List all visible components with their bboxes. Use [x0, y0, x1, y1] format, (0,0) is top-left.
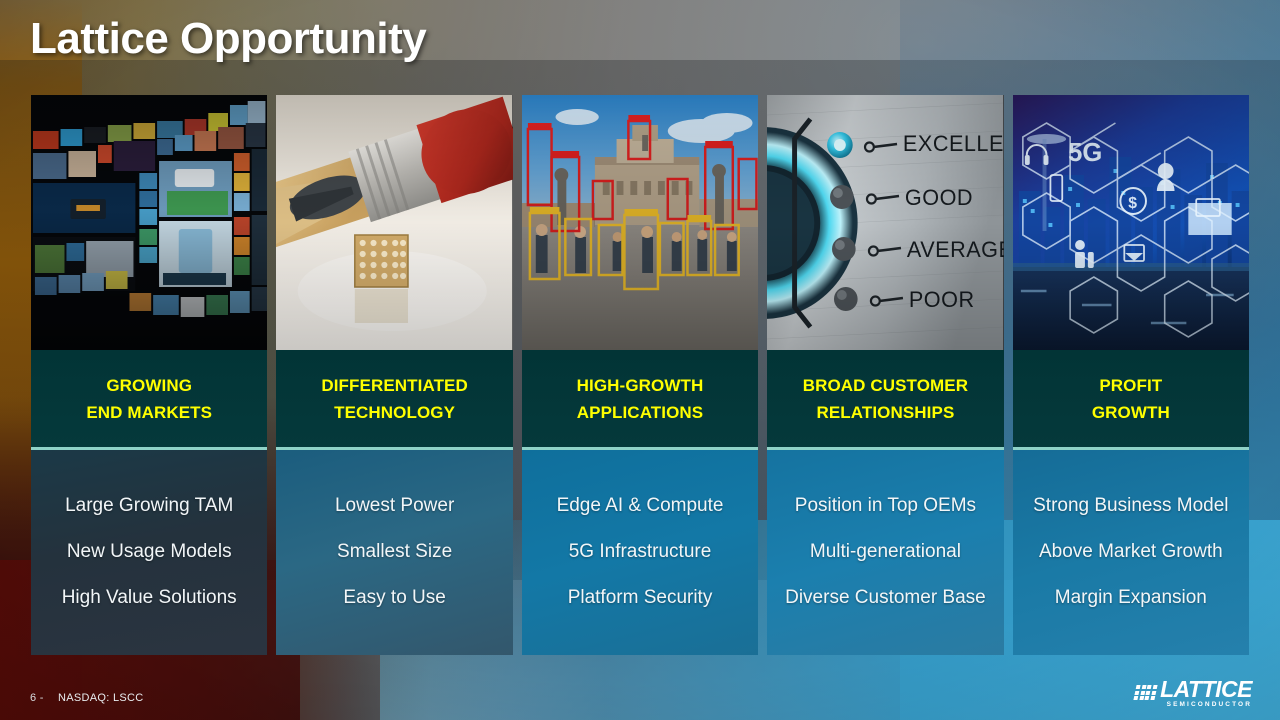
pillar-bullet: Position in Top OEMs [767, 483, 1003, 529]
quality-rating-panel-photo: EXCELLENT GOOD AVERAGE [767, 95, 1003, 350]
pillar-bullet: Easy to Use [276, 575, 512, 621]
pillar-header-2: DIFFERENTIATED TECHNOLOGY [276, 350, 512, 450]
pillar-columns: GROWING END MARKETS Large Growing TAM Ne… [31, 95, 1249, 655]
smart-city-5g-network-photo: 5G $ [1013, 95, 1249, 350]
pillar-header-line: GROWTH [1092, 399, 1170, 426]
pillar-bullets-3: Edge AI & Compute 5G Infrastructure Plat… [522, 450, 758, 655]
pillar-bullets-1: Large Growing TAM New Usage Models High … [31, 450, 267, 655]
pillar-bullets-5: Strong Business Model Above Market Growt… [1013, 450, 1249, 655]
pillar-bullet: Lowest Power [276, 483, 512, 529]
lattice-grid-icon [1133, 685, 1157, 700]
pillar-header-1: GROWING END MARKETS [31, 350, 267, 450]
pillar-header-line: BROAD CUSTOMER [803, 372, 968, 399]
pencil-tip-tiny-chip-photo [276, 95, 512, 350]
pillar-header-3: HIGH-GROWTH APPLICATIONS [522, 350, 758, 450]
pillar-header-line: TECHNOLOGY [334, 399, 455, 426]
pillar-header-4: BROAD CUSTOMER RELATIONSHIPS [767, 350, 1003, 450]
pillar-header-line: PROFIT [1099, 372, 1162, 399]
stock-ticker: NASDAQ: LSCC [58, 692, 144, 704]
pillar-bullet: Smallest Size [276, 529, 512, 575]
pillar-bullet: Platform Security [522, 575, 758, 621]
pillar-header-line: HIGH-GROWTH [577, 372, 704, 399]
slide-canvas: Lattice Opportunity [0, 0, 1280, 720]
pillar-header-line: END MARKETS [86, 399, 212, 426]
page-title: Lattice Opportunity [30, 14, 426, 64]
pillar-column-profit-growth: 5G $ [1013, 95, 1249, 655]
pillar-header-line: APPLICATIONS [577, 399, 704, 426]
pillar-bullets-2: Lowest Power Smallest Size Easy to Use [276, 450, 512, 655]
lattice-semiconductor-logo: LATTICE SEMICONDUCTOR [1135, 678, 1252, 709]
pillar-column-high-growth-applications: HIGH-GROWTH APPLICATIONS Edge AI & Compu… [522, 95, 758, 655]
pillar-bullet: 5G Infrastructure [522, 529, 758, 575]
pillar-bullets-4: Position in Top OEMs Multi-generational … [767, 450, 1003, 655]
pillar-column-broad-customer-relationships: EXCELLENT GOOD AVERAGE [767, 95, 1003, 655]
logo-wordmark: LATTICE SEMICONDUCTOR [1160, 678, 1252, 709]
logo-name: LATTICE [1160, 678, 1252, 701]
pillar-bullet: New Usage Models [31, 529, 267, 575]
pillar-bullet: Edge AI & Compute [522, 483, 758, 529]
pillar-bullet: Large Growing TAM [31, 483, 267, 529]
logo-subtitle: SEMICONDUCTOR [1160, 702, 1252, 709]
pillar-bullet: Diverse Customer Base [767, 575, 1003, 621]
pillar-header-line: RELATIONSHIPS [816, 399, 954, 426]
pillar-bullet: Margin Expansion [1013, 575, 1249, 621]
pillar-header-line: GROWING [106, 372, 192, 399]
page-number: 6 - [30, 692, 44, 704]
pillar-header-5: PROFIT GROWTH [1013, 350, 1249, 450]
pillar-column-growing-end-markets: GROWING END MARKETS Large Growing TAM Ne… [31, 95, 267, 655]
pillar-bullet: Strong Business Model [1013, 483, 1249, 529]
pillar-bullet: Multi-generational [767, 529, 1003, 575]
pillar-column-differentiated-technology: DIFFERENTIATED TECHNOLOGY Lowest Power S… [276, 95, 512, 655]
pillar-bullet: Above Market Growth [1013, 529, 1249, 575]
video-wall-screens-photo [31, 95, 267, 350]
pillar-header-line: DIFFERENTIATED [321, 372, 468, 399]
object-detection-street-photo [522, 95, 758, 350]
pillar-bullet: High Value Solutions [31, 575, 267, 621]
